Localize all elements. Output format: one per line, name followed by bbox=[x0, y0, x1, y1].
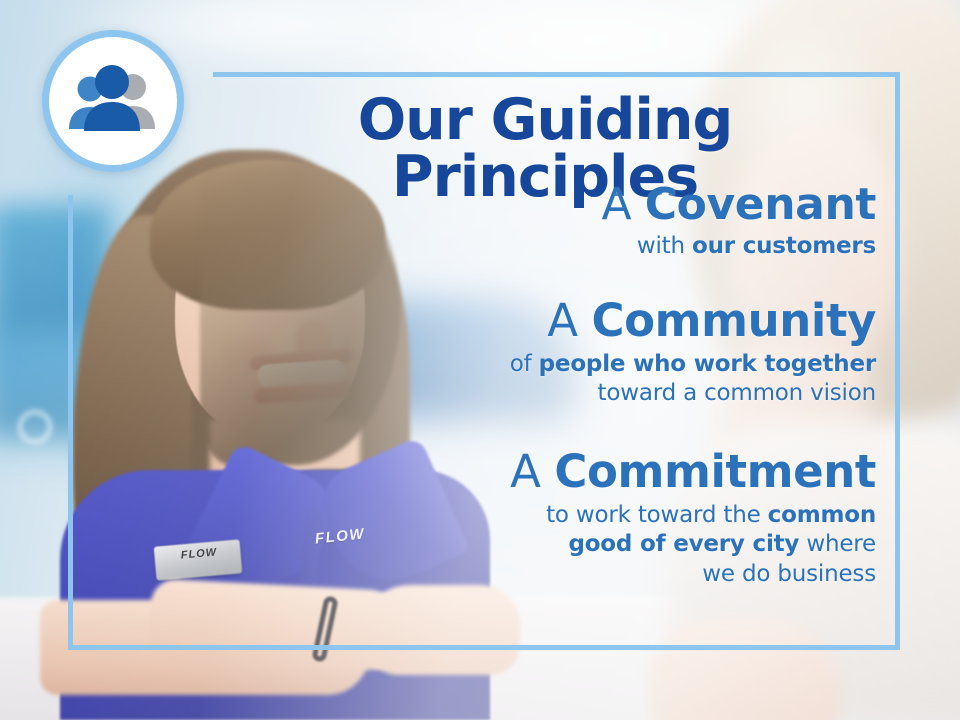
principle-covenant-sub-emphasis: our customers bbox=[692, 233, 876, 259]
principle-community-sub-lead: of bbox=[510, 351, 539, 377]
people-group-icon-badge bbox=[42, 30, 184, 172]
principle-commitment-sub-line3: we do business bbox=[702, 561, 876, 587]
principle-commitment-sub-line2-tail: where bbox=[799, 531, 876, 557]
principle-covenant-article: A bbox=[601, 179, 644, 230]
principle-commitment-sub-line1-emphasis: common bbox=[768, 502, 876, 528]
principle-community-sub-emphasis: people who work together bbox=[539, 351, 876, 377]
principle-community-article: A bbox=[547, 294, 591, 347]
principle-commitment-title: A Commitment bbox=[300, 449, 876, 495]
principle-commitment: A Commitment to work toward the common g… bbox=[300, 449, 876, 589]
principle-covenant-sub-lead: with bbox=[637, 233, 692, 259]
principle-covenant: A Covenant with our customers bbox=[300, 182, 876, 262]
principle-covenant-title: A Covenant bbox=[300, 182, 876, 227]
principle-community-sub-line2: toward a common vision bbox=[598, 380, 876, 406]
principle-commitment-subtitle: to work toward the common good of every … bbox=[300, 501, 876, 589]
guiding-principles-graphic: FLOW FLOW O bbox=[0, 0, 960, 720]
principle-community-keyword: Community bbox=[592, 294, 876, 347]
principle-commitment-sub-line1-lead: to work toward the bbox=[546, 502, 768, 528]
principle-community-title: A Community bbox=[300, 298, 876, 344]
principles-list: A Covenant with our customers A Communit… bbox=[300, 182, 876, 593]
principle-commitment-article: A bbox=[510, 445, 554, 498]
people-group-icon bbox=[65, 65, 161, 137]
principle-commitment-sub-line2-emphasis: good of every city bbox=[568, 531, 799, 557]
principle-community-subtitle: of people who work together toward a com… bbox=[300, 350, 876, 410]
principle-covenant-subtitle: with our customers bbox=[300, 232, 876, 262]
principle-community: A Community of people who work together … bbox=[300, 298, 876, 409]
principle-commitment-keyword: Commitment bbox=[554, 445, 876, 498]
principle-covenant-keyword: Covenant bbox=[645, 179, 876, 230]
